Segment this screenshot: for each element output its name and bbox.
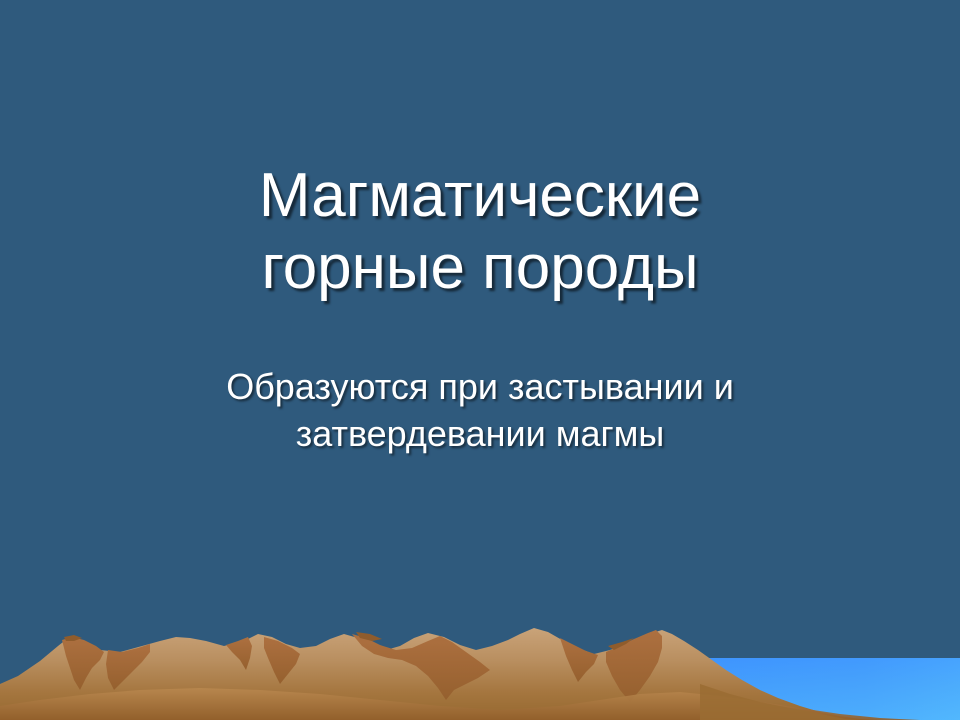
slide-title: Магматические горные породы [96,160,864,304]
presentation-slide: Магматические горные породы Образуются п… [0,0,960,720]
mountain-landscape-illustration [0,0,960,720]
slide-subtitle: Образуются при застывании и затвердевани… [120,364,840,458]
slide-title-line-1: Магматические [96,160,864,232]
slide-subtitle-line-2: затвердевании магмы [120,411,840,458]
slide-subtitle-line-1: Образуются при застывании и [120,364,840,411]
slide-title-line-2: горные породы [96,232,864,304]
